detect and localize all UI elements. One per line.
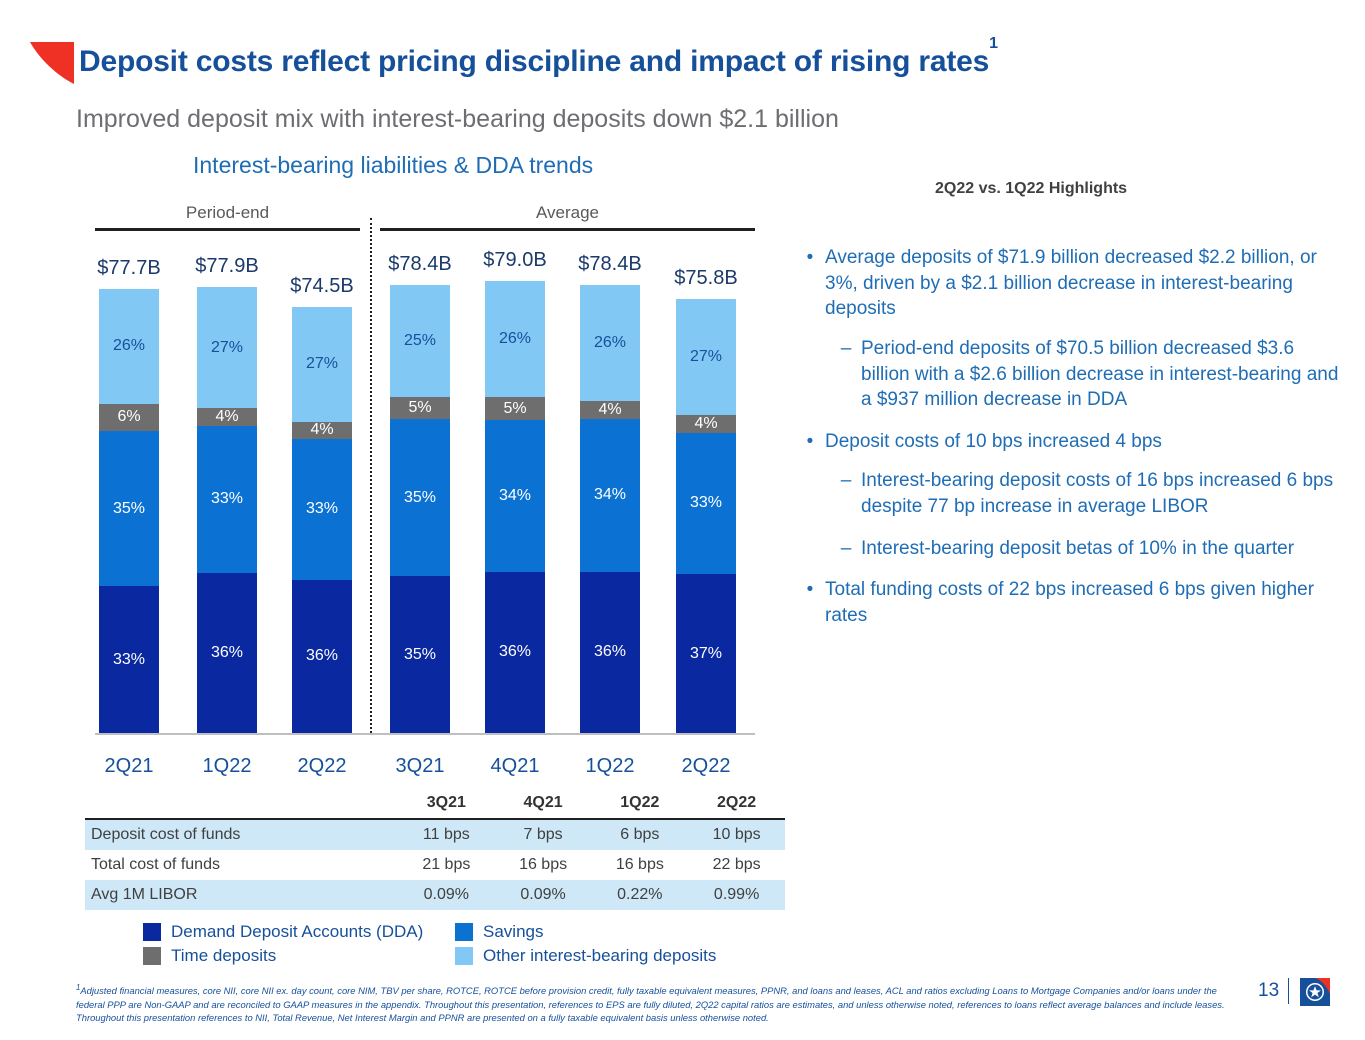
- bar-segment: 34%: [485, 420, 545, 572]
- legend-label: Demand Deposit Accounts (DDA): [171, 922, 423, 942]
- bar-segment: 6%: [99, 404, 159, 431]
- table-cell: 6 bps: [591, 819, 688, 850]
- table-header-row: 3Q21 4Q21 1Q22 2Q22: [85, 788, 785, 819]
- highlight-sub-bullet: –Interest-bearing deposit costs of 16 bp…: [831, 468, 1340, 519]
- section-label-average: Average: [380, 203, 755, 223]
- bullet-text: Average deposits of $71.9 billion decrea…: [825, 245, 1340, 322]
- legend-label: Other interest-bearing deposits: [483, 946, 716, 966]
- bullet-marker: •: [795, 577, 825, 628]
- table-cell: 7 bps: [495, 819, 592, 850]
- table-cell: 0.09%: [495, 880, 592, 910]
- legend-label: Savings: [483, 922, 543, 942]
- bar-group: 36%33%4%27%$77.9B1Q22: [197, 287, 257, 733]
- bar-segment: 26%: [485, 281, 545, 397]
- highlight-sub-bullet: –Interest-bearing deposit betas of 10% i…: [831, 536, 1340, 562]
- bar-group: 37%33%4%27%$75.8B2Q22: [676, 299, 736, 733]
- bar-segment: 25%: [390, 285, 450, 397]
- bar-segment: 27%: [292, 307, 352, 422]
- table-cell: 11 bps: [398, 819, 495, 850]
- legend-color-swatch: [455, 947, 473, 965]
- highlight-bullet: •Deposit costs of 10 bps increased 4 bps: [795, 429, 1340, 455]
- table-col-header-3: 1Q22: [591, 788, 688, 819]
- legend-item: Other interest-bearing deposits: [455, 946, 716, 966]
- table-cell: 0.22%: [591, 880, 688, 910]
- bar-segment: 34%: [580, 419, 640, 571]
- bar-segment: 36%: [485, 572, 545, 733]
- highlights-bullet-list: •Average deposits of $71.9 billion decre…: [795, 245, 1340, 643]
- legend-color-swatch: [143, 923, 161, 941]
- table-cell: 22 bps: [688, 850, 785, 880]
- bullet-marker: –: [831, 336, 861, 413]
- section-rule-period-end: [95, 228, 360, 231]
- bar-segment: 33%: [676, 433, 736, 575]
- cost-of-funds-table: 3Q21 4Q21 1Q22 2Q22 Deposit cost of fund…: [85, 788, 785, 910]
- table-col-header-2: 4Q21: [495, 788, 592, 819]
- legend-label: Time deposits: [171, 946, 276, 966]
- bar-total-label: $74.5B: [257, 275, 387, 298]
- legend-item: Time deposits: [143, 946, 455, 966]
- bullet-text: Period-end deposits of $70.5 billion dec…: [861, 336, 1340, 413]
- bullet-marker: •: [795, 245, 825, 322]
- table-row: Avg 1M LIBOR0.09%0.09%0.22%0.99%: [85, 880, 785, 910]
- bar-group: 36%33%4%27%$74.5B2Q22: [292, 307, 352, 733]
- bar-segment: 35%: [99, 431, 159, 587]
- highlight-sub-bullet: –Period-end deposits of $70.5 billion de…: [831, 336, 1340, 413]
- bar-segment: 26%: [580, 285, 640, 402]
- table-row-label: Total cost of funds: [85, 850, 398, 880]
- footer-divider: [1288, 978, 1289, 1004]
- bar-segment: 26%: [99, 289, 159, 405]
- bar-segment: 5%: [485, 397, 545, 419]
- highlight-bullet: •Average deposits of $71.9 billion decre…: [795, 245, 1340, 322]
- chart-axis-line: [95, 733, 755, 735]
- bar-segment: 36%: [580, 572, 640, 733]
- bar-group: 35%35%5%25%$78.4B3Q21: [390, 285, 450, 733]
- legend-item: Demand Deposit Accounts (DDA): [143, 922, 455, 942]
- bullet-marker: •: [795, 429, 825, 455]
- page-number: 13: [1258, 980, 1279, 1002]
- bar-segment: 4%: [580, 401, 640, 419]
- section-rule-average: [380, 228, 755, 231]
- page-title-superscript: 1: [989, 35, 998, 52]
- bar-segment: 36%: [197, 573, 257, 733]
- chart-area: Period-end Average 33%35%6%26%$77.7B2Q21…: [0, 0, 790, 800]
- section-label-period-end: Period-end: [95, 203, 360, 223]
- legend-row: Demand Deposit Accounts (DDA)Savings: [143, 922, 763, 942]
- bar-segment: 33%: [197, 426, 257, 573]
- chart-legend: Demand Deposit Accounts (DDA)SavingsTime…: [143, 922, 763, 970]
- bar-segment: 27%: [676, 299, 736, 415]
- table-col-header-4: 2Q22: [688, 788, 785, 819]
- bar-segment: 4%: [197, 408, 257, 426]
- bar-segment: 36%: [292, 580, 352, 733]
- bullet-marker: –: [831, 536, 861, 562]
- bar-category-label: 2Q22: [646, 755, 766, 778]
- table-row: Total cost of funds21 bps16 bps16 bps22 …: [85, 850, 785, 880]
- highlight-bullet: •Total funding costs of 22 bps increased…: [795, 577, 1340, 628]
- bar-group: 33%35%6%26%$77.7B2Q21: [99, 289, 159, 733]
- bar-group: 36%34%4%26%$78.4B1Q22: [580, 285, 640, 733]
- footnote: 1Adjusted financial measures, core NII, …: [76, 982, 1226, 1025]
- bullet-text: Total funding costs of 22 bps increased …: [825, 577, 1340, 628]
- bar-segment: 33%: [99, 586, 159, 733]
- table-cell: 21 bps: [398, 850, 495, 880]
- bar-segment: 33%: [292, 439, 352, 580]
- company-logo-icon: [1300, 978, 1330, 1006]
- bar-segment: 35%: [390, 419, 450, 576]
- bullet-text: Interest-bearing deposit betas of 10% in…: [861, 536, 1294, 562]
- bullet-marker: –: [831, 468, 861, 519]
- bar-segment: 35%: [390, 576, 450, 733]
- legend-item: Savings: [455, 922, 543, 942]
- table-col-header-0: [85, 788, 398, 819]
- table-body: Deposit cost of funds11 bps7 bps6 bps10 …: [85, 819, 785, 910]
- table-cell: 10 bps: [688, 819, 785, 850]
- table-row: Deposit cost of funds11 bps7 bps6 bps10 …: [85, 819, 785, 850]
- bar-total-label: $75.8B: [641, 267, 771, 290]
- table-row-label: Deposit cost of funds: [85, 819, 398, 850]
- highlights-title: 2Q22 vs. 1Q22 Highlights: [935, 180, 1127, 198]
- legend-color-swatch: [455, 923, 473, 941]
- table-cell: 16 bps: [495, 850, 592, 880]
- bullet-text: Deposit costs of 10 bps increased 4 bps: [825, 429, 1162, 455]
- table-cell: 0.09%: [398, 880, 495, 910]
- bar-segment: 27%: [197, 287, 257, 407]
- table-cell: 16 bps: [591, 850, 688, 880]
- legend-color-swatch: [143, 947, 161, 965]
- legend-row: Time depositsOther interest-bearing depo…: [143, 946, 763, 966]
- bar-segment: 37%: [676, 574, 736, 733]
- table-header: 3Q21 4Q21 1Q22 2Q22: [85, 788, 785, 819]
- bar-segment: 4%: [676, 415, 736, 432]
- footnote-text: Adjusted financial measures, core NII, c…: [76, 985, 1225, 1023]
- bar-segment: 5%: [390, 397, 450, 419]
- table-cell: 0.99%: [688, 880, 785, 910]
- bullet-text: Interest-bearing deposit costs of 16 bps…: [861, 468, 1340, 519]
- bar-group: 36%34%5%26%$79.0B4Q21: [485, 281, 545, 733]
- table-col-header-1: 3Q21: [398, 788, 495, 819]
- table-row-label: Avg 1M LIBOR: [85, 880, 398, 910]
- bar-segment: 4%: [292, 422, 352, 439]
